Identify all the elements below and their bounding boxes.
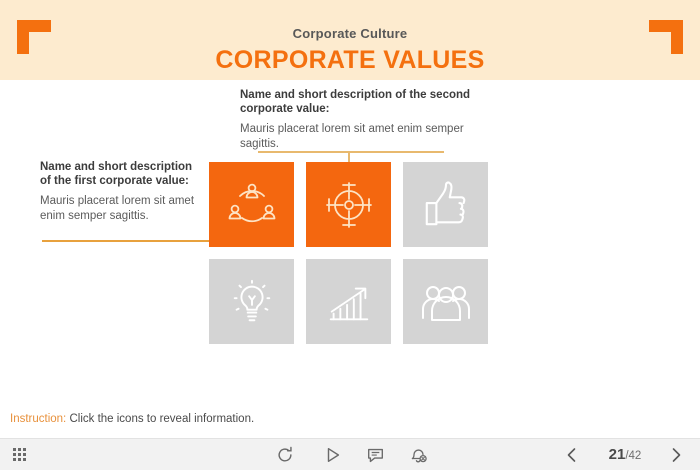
value-tile-grid	[209, 162, 488, 344]
tile-teamwork-network[interactable]	[209, 162, 294, 247]
target-crosshair-icon	[323, 179, 375, 231]
callout-first-value-body: Mauris placerat lorem sit amet enim semp…	[40, 194, 202, 223]
callout-first-value-title: Name and short description of the first …	[40, 160, 202, 188]
header-eyebrow: Corporate Culture	[0, 26, 700, 41]
tile-lightbulb-idea[interactable]	[209, 259, 294, 344]
connector-line-left-horizontal	[42, 240, 212, 242]
people-group-icon	[420, 276, 472, 328]
tile-target-crosshair[interactable]	[306, 162, 391, 247]
teamwork-network-icon	[226, 179, 278, 231]
slide-header: Corporate Culture CORPORATE VALUES	[0, 0, 700, 80]
page-total: /42	[625, 450, 641, 462]
tile-thumbs-up[interactable]	[403, 162, 488, 247]
instruction-text: Instruction: Click the icons to reveal i…	[10, 413, 254, 425]
instruction-body: Click the icons to reveal information.	[69, 413, 254, 425]
callout-second-value-body: Mauris placerat lorem sit amet enim semp…	[240, 122, 486, 151]
tile-people-group[interactable]	[403, 259, 488, 344]
callout-first-value: Name and short description of the first …	[40, 160, 202, 223]
page-current: 21	[609, 446, 626, 463]
slide-canvas: Corporate Culture CORPORATE VALUES Name …	[0, 0, 700, 470]
grid-menu-icon[interactable]	[10, 445, 30, 465]
chevron-left-icon[interactable]	[562, 445, 582, 465]
page-title: CORPORATE VALUES	[0, 46, 700, 75]
callout-second-value: Name and short description of the second…	[240, 88, 486, 151]
bell-muted-icon[interactable]	[408, 445, 428, 465]
connector-line-top-horizontal	[258, 151, 444, 153]
replay-icon[interactable]	[275, 445, 295, 465]
player-toolbar: 21/42	[0, 438, 700, 470]
thumbs-up-icon	[421, 180, 471, 230]
instruction-label: Instruction:	[10, 413, 66, 425]
page-counter: 21/42	[592, 446, 658, 463]
play-icon[interactable]	[323, 445, 343, 465]
growth-chart-icon	[324, 277, 374, 327]
chevron-right-icon[interactable]	[666, 445, 686, 465]
tile-growth-chart[interactable]	[306, 259, 391, 344]
lightbulb-idea-icon	[227, 277, 277, 327]
speech-bubble-icon[interactable]	[365, 445, 385, 465]
callout-second-value-title: Name and short description of the second…	[240, 88, 486, 116]
